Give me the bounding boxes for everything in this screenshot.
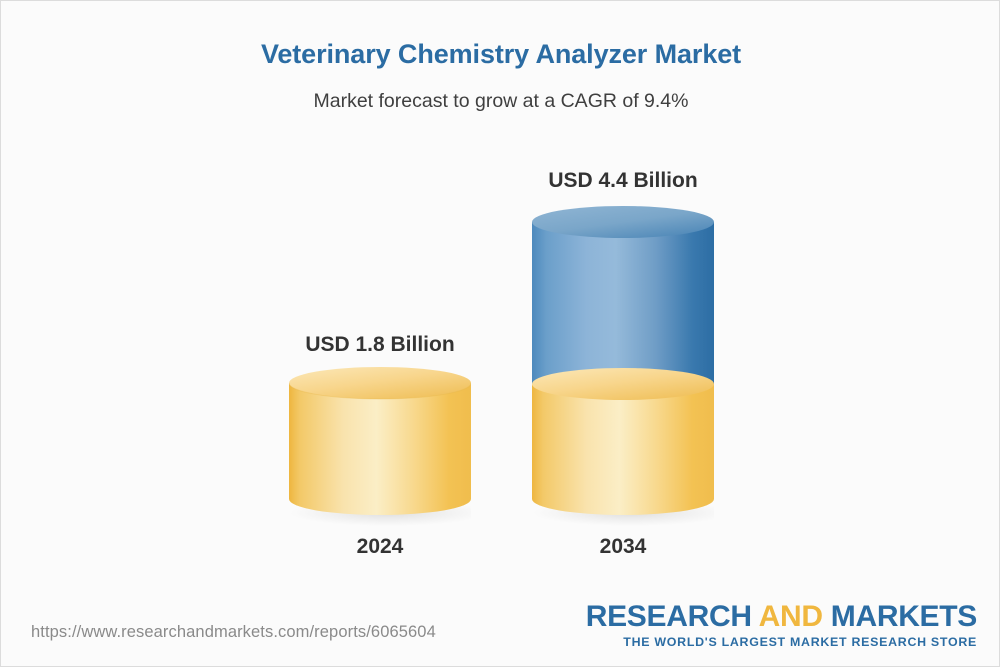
chart-canvas: Veterinary Chemistry Analyzer Market Mar…	[0, 0, 1000, 667]
logo-tagline: THE WORLD'S LARGEST MARKET RESEARCH STOR…	[586, 635, 977, 649]
logo-word-and: AND	[759, 600, 823, 633]
cylinder-2034	[532, 1, 714, 601]
chart-plot-area: USD 1.8 Billion	[1, 1, 1000, 601]
logo-word-markets: MARKETS	[823, 600, 977, 633]
bar-2034: USD 4.4 Billion	[532, 1, 714, 601]
research-and-markets-logo: RESEARCH AND MARKETS THE WORLD'S LARGEST…	[586, 601, 977, 649]
bar-category-label-2024: 2024	[289, 535, 471, 559]
source-url[interactable]: https://www.researchandmarkets.com/repor…	[31, 623, 436, 642]
bar-2024: USD 1.8 Billion	[289, 1, 471, 601]
logo-wordmark: RESEARCH AND MARKETS	[586, 601, 977, 633]
logo-word-research: RESEARCH	[586, 600, 759, 633]
cylinder-2024	[289, 1, 471, 601]
bar-category-label-2034: 2034	[532, 535, 714, 559]
